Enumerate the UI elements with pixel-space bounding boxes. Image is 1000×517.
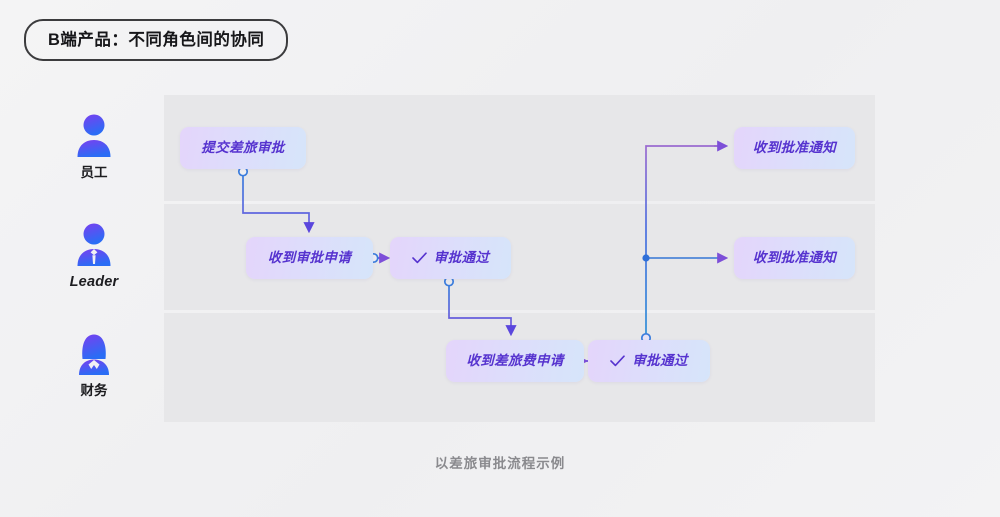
card-label: 审批通过 bbox=[434, 251, 490, 265]
manager-avatar-icon bbox=[73, 222, 115, 268]
card-receive-fee-request[interactable]: 收到差旅费申请 bbox=[446, 340, 584, 382]
card-label: 提交差旅审批 bbox=[201, 141, 284, 155]
card-submit-travel-approval[interactable]: 提交差旅审批 bbox=[180, 127, 306, 169]
diagram-caption: 以差旅审批流程示例 bbox=[0, 452, 1000, 472]
card-label: 审批通过 bbox=[632, 354, 688, 368]
card-notification-leader[interactable]: 收到批准通知 bbox=[734, 237, 855, 279]
card-label: 收到差旅费申请 bbox=[466, 354, 563, 368]
role-employee: 员工 bbox=[58, 113, 130, 180]
card-approval-passed-leader[interactable]: 审批通过 bbox=[390, 237, 511, 279]
user-avatar-icon bbox=[73, 113, 115, 159]
check-icon bbox=[412, 252, 427, 264]
role-finance: 财务 bbox=[58, 331, 130, 398]
check-icon bbox=[610, 355, 625, 367]
role-column: 员工 Leader 财务 bbox=[58, 95, 130, 422]
role-label-leader: Leader bbox=[70, 275, 119, 290]
card-label: 收到批准通知 bbox=[753, 141, 836, 155]
page-title: B端产品：不同角色间的协同 bbox=[48, 32, 264, 49]
card-notification-employee[interactable]: 收到批准通知 bbox=[734, 127, 855, 169]
card-label: 收到批准通知 bbox=[753, 251, 836, 265]
card-receive-approval-request[interactable]: 收到审批申请 bbox=[246, 237, 373, 279]
card-approval-passed-finance[interactable]: 审批通过 bbox=[588, 340, 710, 382]
role-leader: Leader bbox=[58, 222, 130, 290]
role-label-employee: 员工 bbox=[81, 166, 108, 180]
page-title-pill: B端产品：不同角色间的协同 bbox=[24, 19, 288, 61]
card-label: 收到审批申请 bbox=[268, 251, 351, 265]
role-label-finance: 财务 bbox=[81, 384, 108, 398]
finance-avatar-icon bbox=[73, 331, 115, 377]
